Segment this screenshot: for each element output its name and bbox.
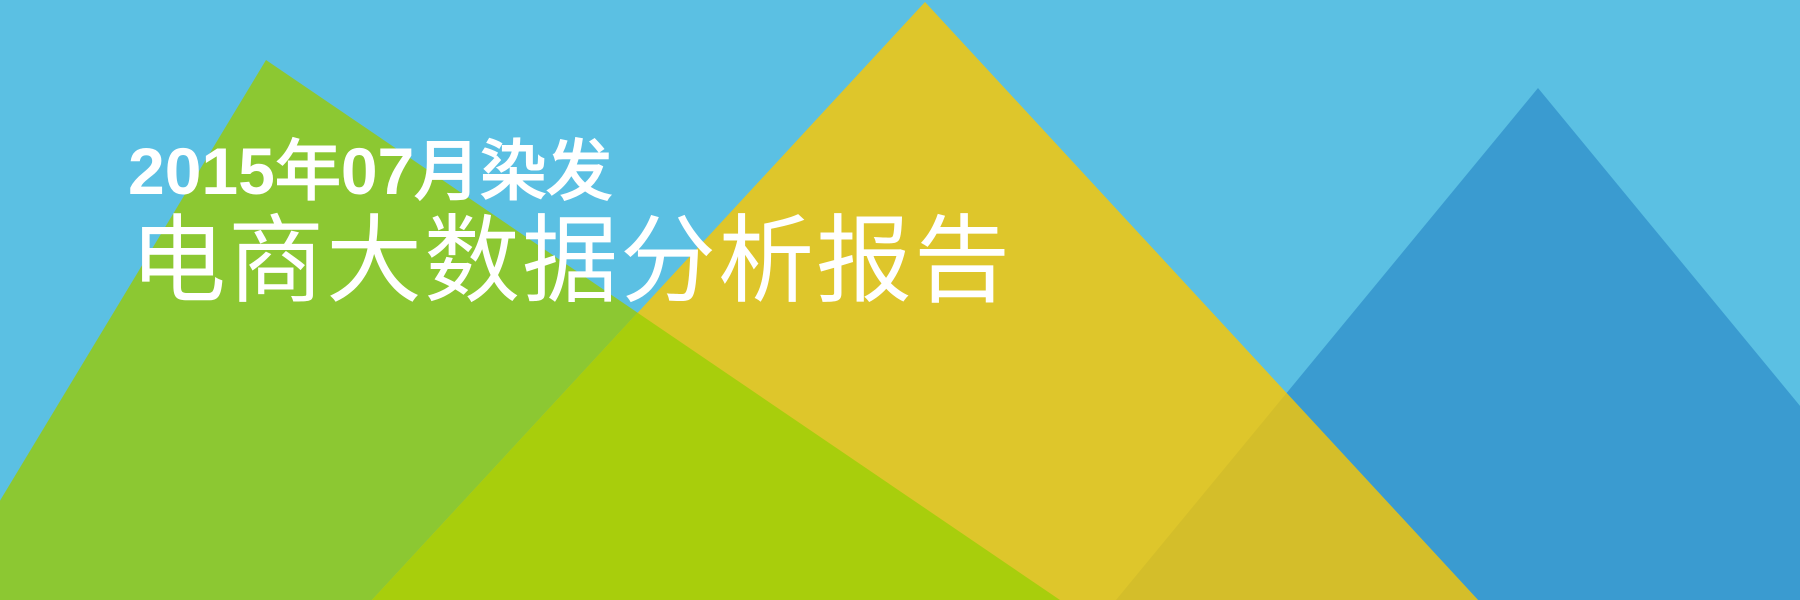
report-banner: 2015年07月染发 电商大数据分析报告: [0, 0, 1800, 600]
background-graphic: [0, 0, 1800, 600]
